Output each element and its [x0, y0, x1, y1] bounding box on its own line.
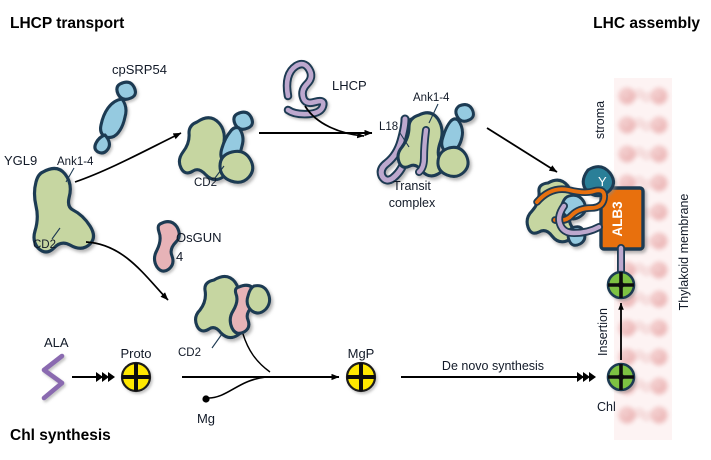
complex-ygl9-cpsrp54	[179, 112, 252, 182]
protein-cpsrp54	[95, 82, 136, 153]
label-osgun-line2: 4	[176, 249, 183, 264]
label-cpsrp54: cpSRP54	[112, 62, 167, 77]
label-osgun-line1: OsGUN	[176, 230, 222, 245]
label-de-novo-synthesis: De novo synthesis	[442, 359, 544, 373]
label-ank1-4-left: Ank1-4	[57, 156, 94, 168]
label-ala: ALA	[44, 335, 69, 350]
transit-complex	[381, 105, 473, 181]
title-lhc-assembly: LHC assembly	[593, 15, 700, 32]
label-transit-line2: complex	[389, 196, 436, 210]
label-ygl9: YGL9	[4, 153, 37, 168]
label-mgp: MgP	[348, 346, 375, 361]
label-ank1-4-transit: Ank1-4	[413, 92, 450, 104]
diagram-canvas: LHCP transport LHC assembly Chl synthesi…	[0, 0, 711, 460]
molecule-mgp	[347, 363, 375, 391]
label-thylakoid-membrane: Thylakoid membrane	[677, 194, 691, 311]
label-cd2-left: CD2	[33, 239, 56, 251]
label-stroma: stroma	[593, 101, 607, 139]
label-lhcp: LHCP	[332, 78, 367, 93]
molecule-ala	[44, 356, 62, 398]
title-lhcp-transport: LHCP transport	[10, 15, 124, 32]
chlorophyll-inserted	[608, 272, 634, 298]
molecule-proto	[122, 363, 150, 391]
leader-enzyme-to-arrow	[243, 334, 270, 372]
label-l18: L18	[379, 121, 398, 133]
label-transit-line1: Transit	[393, 179, 431, 193]
arrow-de-novo-synthesis	[401, 372, 596, 382]
label-alb3: ALB3	[610, 201, 625, 237]
label-chl: Chl	[597, 400, 616, 414]
arrow-ala-to-proto	[72, 372, 115, 382]
pathway-diagram: LHCP transport LHC assembly Chl synthesi…	[0, 0, 711, 460]
complex-ygl9-osgun4	[196, 276, 270, 337]
arrow-mg-input	[202, 377, 266, 403]
arrow-transit-to-alb3	[487, 128, 557, 172]
leader-line-cd2-gun	[212, 334, 222, 348]
label-insertion: Insertion	[596, 308, 610, 356]
label-cd2-gun: CD2	[178, 347, 201, 359]
title-chl-synthesis: Chl synthesis	[10, 427, 111, 444]
chlorophyll-free	[608, 364, 634, 390]
label-cd2-mid: CD2	[194, 177, 217, 189]
label-proto: Proto	[120, 346, 151, 361]
label-mg: Mg	[197, 411, 215, 426]
mg-dot	[202, 395, 209, 402]
